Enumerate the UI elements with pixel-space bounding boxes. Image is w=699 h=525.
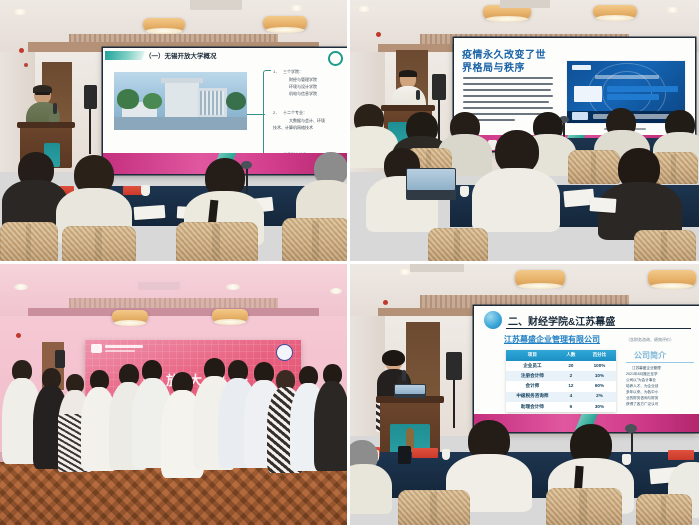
campus-building [165,81,200,117]
drum-lamp [593,5,637,18]
handheld-microphone [402,370,406,381]
photo-bottom-right[interactable]: 二、财经学院&江苏幕盛 江苏幕盛企业管理有限公司 （含财务咨询、绩效评价） 项目… [350,264,699,525]
banquet-chair[interactable] [636,494,692,525]
slide-body-line [463,107,553,109]
table-header-row: 项目 人数 百分比 [506,350,616,361]
table-cell-percent: 10% [583,371,616,381]
company-intro-line: 2021年8月搬迁至学 [626,372,658,377]
downlight-icon [330,288,342,294]
photo-bottom-left[interactable]: 开放大学峰会 [0,264,347,525]
speaker-box [55,350,65,368]
table-row: 会计师 12 60% [506,381,616,391]
podium-top [17,122,75,128]
banquet-chair[interactable] [428,228,488,261]
podium-top [381,105,435,111]
university-wordmark-logo [91,344,102,353]
fire-alarm-icon [16,333,21,338]
ceiling-beam [28,308,319,316]
speaker-box [432,74,446,100]
banquet-chair[interactable] [62,226,136,261]
drum-lamp [648,270,696,286]
slide-body-line [463,113,547,115]
photo-top-right[interactable]: 疫情永久改变了世 界格局与秩序 [350,0,699,261]
nameplate [668,450,694,460]
bracket-connector [247,114,265,115]
table-cell-count: 4 [559,392,583,402]
speaker-tripod [453,380,455,428]
tree [143,93,162,109]
teacup [460,186,469,197]
insert-card [574,86,602,102]
company-intro-line: 公司以"为会计事业 [626,378,656,383]
slide-ribbon [105,51,145,60]
ceiling-vent [410,264,464,272]
drum-lamp [112,310,148,323]
handheld-microphone [416,90,420,100]
table-cell-item: 企业员工 [506,361,559,371]
bullet-2-heading: 十二个专业： [283,110,307,116]
table-cell-item: 中级税务咨询师 [506,392,559,402]
table-row: 中级税务咨询师 4 2% [506,392,616,402]
table-cell-count: 20 [559,361,583,371]
audience-body [350,464,392,514]
fire-alarm-icon [24,63,28,67]
downlight-icon [666,7,679,13]
slide-subtitle-note: （含财务咨询、绩效评价） [626,337,674,343]
campus-ground [114,117,247,130]
figure-bar [607,86,678,92]
slide-body-line [463,95,553,97]
university-emblem-icon [328,51,343,66]
audience-body [472,168,560,232]
staff-table: 项目 人数 百分比 企业员工 20 100% 注册会计师 2 10% [506,350,616,412]
speaker-box [446,352,462,380]
slide-body-line [463,77,553,79]
fire-alarm-icon [383,300,388,305]
campus-photo-inset [114,72,247,130]
fire-alarm-icon [19,48,24,53]
slide-body-line [463,101,549,103]
glasses-icon [35,92,50,95]
bullet-2-line-2: 技术、计算机网络技术 [273,125,313,131]
slide-body-line [463,83,553,85]
table-row: 注册会计师 2 10% [506,371,616,381]
company-intro-line: 获得了各方广泛认可 [626,402,658,407]
photo-top-left[interactable]: （一）无锡开放大学概况 1． 三个学院： 财经与管理学院 环境与设计学院 机电与… [0,0,347,261]
slide-subtitle: 江苏幕盛企业管理有限公司 [504,334,600,345]
banquet-chair[interactable] [398,490,470,525]
banquet-chair[interactable] [568,150,620,184]
drum-lamp [143,18,185,31]
title-underline [506,328,691,329]
company-intro-line: 业的财务咨询与财务 [626,396,658,401]
handout-paper [590,197,617,213]
figure-bar [607,94,659,100]
photo-collage: （一）无锡开放大学概况 1． 三个学院： 财经与管理学院 环境与设计学院 机电与… [0,0,699,525]
slide-title: 二、财经学院&江苏幕盛 [508,313,615,328]
bullet-1-number: 1． [273,69,279,75]
thermos [398,446,411,464]
slide-body-line [463,89,551,91]
company-intro-line: 培养人才、为企业创 [626,384,658,389]
handout-paper [134,205,166,220]
company-intro-line: 多年以来、为各中小 [626,390,658,395]
campus-building-roof [161,78,204,83]
table-cell-percent: 100% [583,361,616,371]
wordmark-subtext [105,350,135,352]
laptop[interactable] [394,384,426,398]
globe-mail-icon [484,311,502,329]
downlight-icon [226,284,240,290]
downlight-icon [290,5,303,11]
person-body [314,381,347,471]
teacup [622,454,631,465]
campus-windows [200,91,224,115]
fire-alarm-icon [376,32,381,37]
company-intro-line: 江苏幕盛企业管理 [632,366,661,371]
table-cell-count: 12 [559,381,583,391]
bullet-1-line-2: 环境与设计学院 [289,84,317,90]
table-cell-percent: 60% [583,381,616,391]
headline-bar [595,75,659,79]
wordmark-text [105,345,143,348]
slide-title: （一）无锡开放大学概况 [145,50,217,60]
ticker-logo [572,112,589,119]
table-cell-item: 助理会计师 [506,402,559,412]
projection-screen: 疫情永久改变了世 界格局与秩序 [454,38,695,151]
banquet-chair[interactable] [546,488,622,525]
speaker-box [84,85,97,109]
banquet-chair[interactable] [0,222,58,261]
table-row: 助理会计师 6 30% [506,402,616,412]
table-cell-count: 6 [559,402,583,412]
table-cell-item: 会计师 [506,381,559,391]
bullet-1-heading: 三个学院： [283,69,303,75]
channel-logo [572,65,591,71]
table-header-cell: 百分比 [583,350,616,361]
table-cell-item: 注册会计师 [506,371,559,381]
table-header-cell: 项目 [506,350,559,361]
ceiling-vent [500,0,550,8]
drum-lamp [263,16,307,30]
projection-screen: 二、财经学院&江苏幕盛 江苏幕盛企业管理有限公司 （含财务咨询、绩效评价） 项目… [474,306,699,432]
bullet-2-number: 2． [273,110,279,116]
table-header-cell: 人数 [559,350,583,361]
presenter-hair [399,70,417,77]
institute-seal-icon [276,344,293,361]
ceiling-vent [190,0,242,10]
bullet-1-line-3: 机电与信息学院 [289,91,317,97]
banquet-chair[interactable] [282,218,347,261]
teacup [141,185,150,196]
downlight-icon [14,284,28,290]
company-intro-rule [626,362,694,363]
table-row: 企业员工 20 100% [506,361,616,371]
table-cell-percent: 30% [583,402,616,412]
drum-lamp [212,309,248,322]
bullet-2-line-1: 大数据与会计、环境 [289,118,325,124]
handheld-microphone [53,103,57,114]
projection-screen: （一）无锡开放大学概况 1． 三个学院： 财经与管理学院 环境与设计学院 机电与… [103,48,347,174]
slide-title-line-2: 界格局与秩序 [462,59,525,74]
table-cell-percent: 2% [583,392,616,402]
company-intro-heading: 公司简介 [634,350,666,361]
table-body: 企业员工 20 100% 注册会计师 2 10% 会计师 12 60% [506,361,616,412]
table-cell-count: 2 [559,371,583,381]
teacup [442,449,450,460]
drum-lamp [515,270,565,286]
downlight-icon [13,9,27,15]
banquet-chair[interactable] [176,222,258,261]
downlight-icon [357,6,371,12]
laptop[interactable] [406,168,456,200]
speaker-tripod [89,109,91,154]
nameplate [412,448,438,458]
ceiling-vent [138,282,180,290]
bullet-1-line-1: 财经与管理学院 [289,77,317,83]
banquet-chair[interactable] [634,230,696,261]
tree [117,89,140,109]
microphone-head [625,424,637,433]
presenter-hair [382,350,405,366]
tree [226,92,246,111]
